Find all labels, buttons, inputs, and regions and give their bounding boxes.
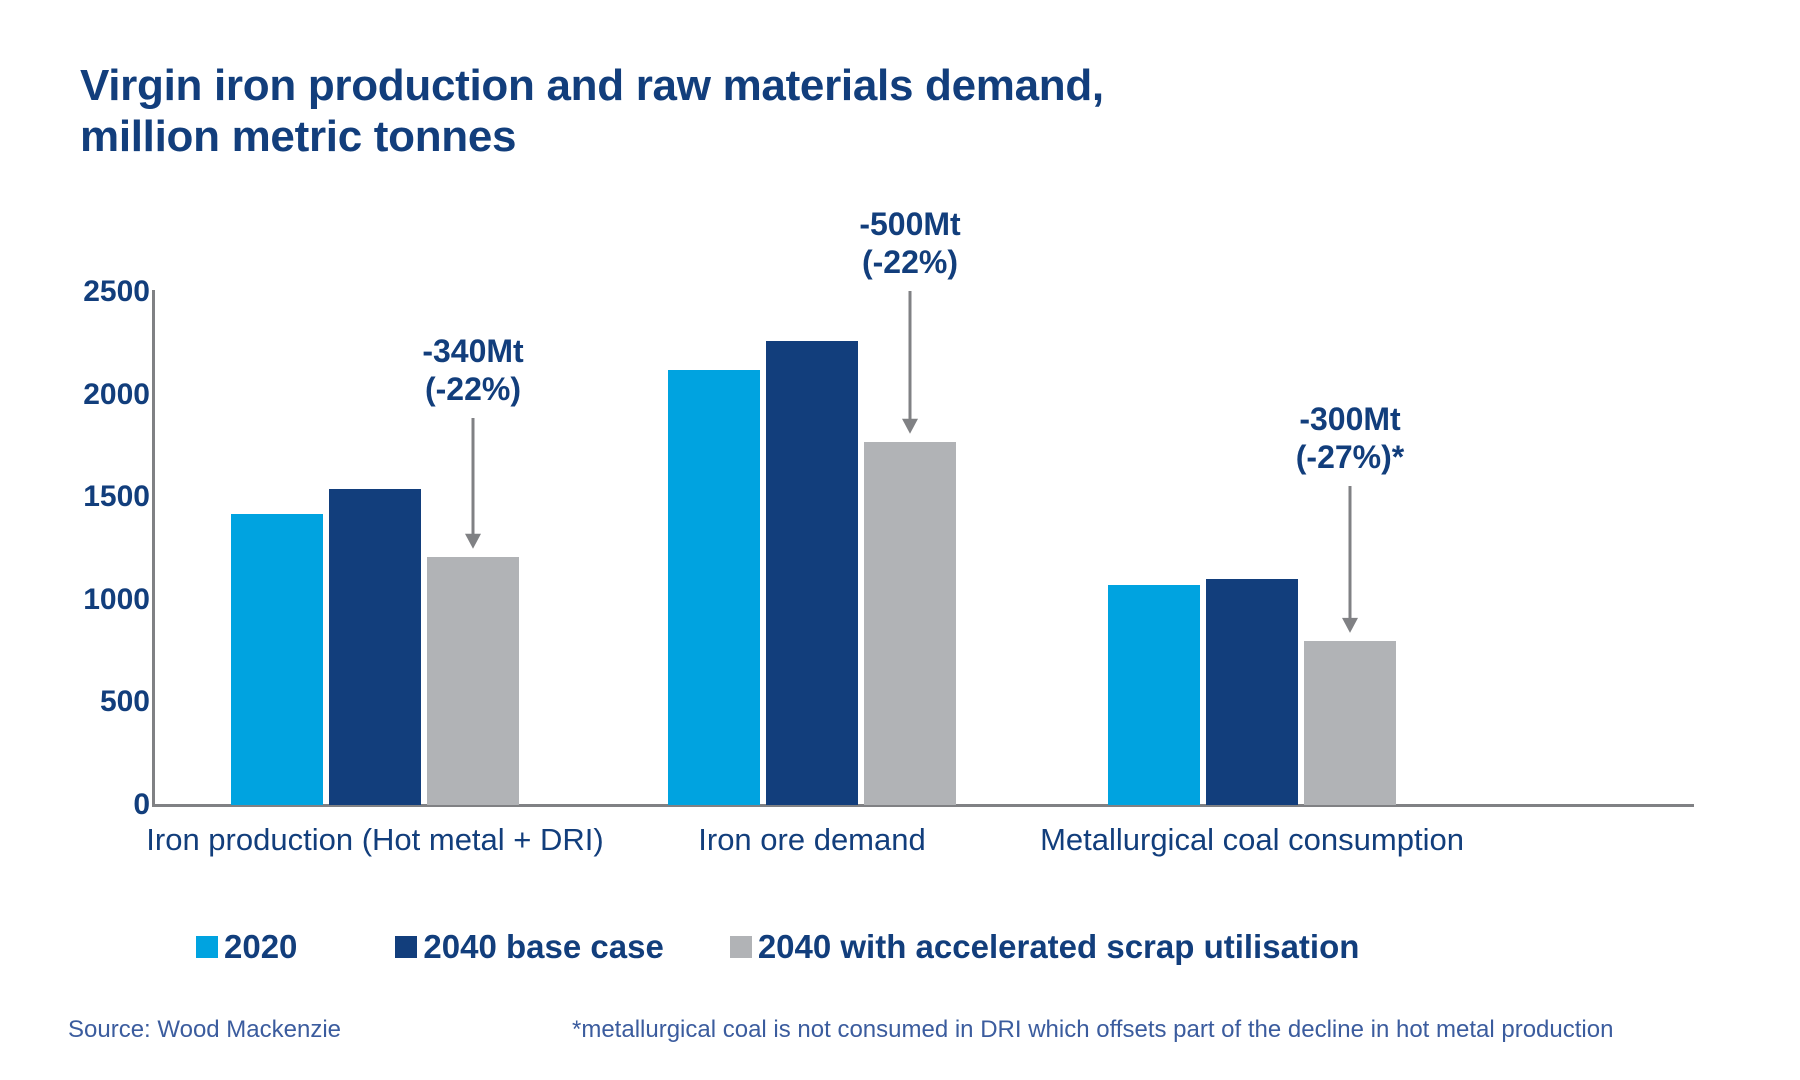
bar[interactable] <box>1108 585 1200 805</box>
footnote-label: *metallurgical coal is not consumed in D… <box>572 1016 1613 1044</box>
chart-annotation: -340Mt(-22%) <box>422 332 523 409</box>
bar[interactable] <box>329 489 421 805</box>
x-axis-category-label: Iron production (Hot metal + DRI) <box>146 822 603 858</box>
annotation-delta-percent: (-22%) <box>859 243 960 281</box>
square-swatch-icon <box>395 936 417 958</box>
x-axis-category-label: Metallurgical coal consumption <box>1040 822 1464 858</box>
down-arrow-icon <box>461 418 485 549</box>
chart-legend: 20202040 base case2040 with accelerated … <box>196 928 1359 966</box>
bar[interactable] <box>231 514 323 805</box>
square-swatch-icon <box>196 936 218 958</box>
legend-item[interactable]: 2040 with accelerated scrap utilisation <box>730 928 1360 966</box>
bar-chart: 05001000150020002500 -340Mt(-22%)-500Mt(… <box>0 0 1800 1080</box>
x-axis-category-label: Iron ore demand <box>698 822 925 858</box>
bar[interactable] <box>1304 641 1396 805</box>
source-label: Source: Wood Mackenzie <box>68 1016 341 1044</box>
bar[interactable] <box>427 557 519 805</box>
bar[interactable] <box>766 341 858 805</box>
legend-item-label: 2040 with accelerated scrap utilisation <box>758 928 1360 966</box>
square-swatch-icon <box>730 936 752 958</box>
chart-footer: Source: Wood Mackenzie *metallurgical co… <box>0 1030 1800 1070</box>
annotation-delta-percent: (-22%) <box>422 370 523 408</box>
annotation-delta-value: -340Mt <box>422 332 523 370</box>
annotation-delta-value: -500Mt <box>859 205 960 243</box>
annotation-delta-value: -300Mt <box>1296 400 1404 438</box>
legend-item-label: 2020 <box>224 928 297 966</box>
annotation-delta-percent: (-27%)* <box>1296 438 1404 476</box>
legend-item-label: 2040 base case <box>423 928 663 966</box>
bar[interactable] <box>864 442 956 805</box>
chart-annotation: -500Mt(-22%) <box>859 205 960 282</box>
legend-item[interactable]: 2040 base case <box>395 928 663 966</box>
bar[interactable] <box>668 370 760 805</box>
legend-item[interactable]: 2020 <box>196 928 297 966</box>
down-arrow-icon <box>898 291 922 434</box>
bar[interactable] <box>1206 579 1298 805</box>
chart-annotation: -300Mt(-27%)* <box>1296 400 1404 477</box>
down-arrow-icon <box>1338 486 1362 633</box>
